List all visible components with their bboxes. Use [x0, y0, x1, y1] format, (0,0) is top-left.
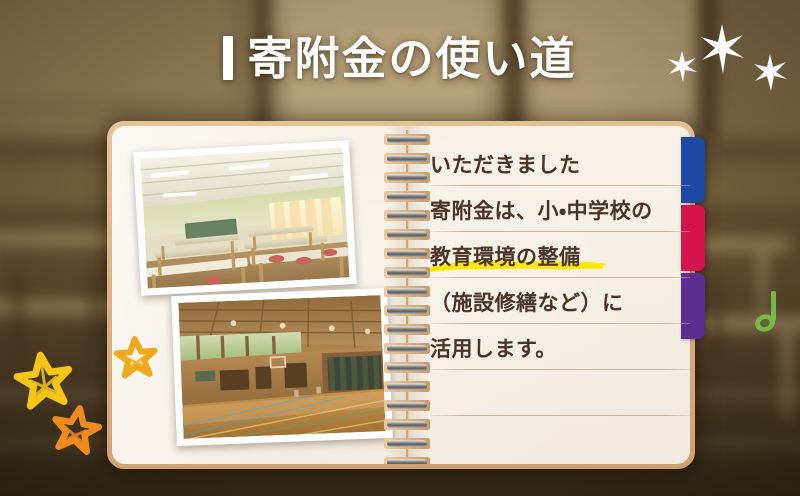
notebook-page: いただきました 寄附金は、小・中学校の 教育環境の整備: [112, 126, 690, 464]
star-doodle-decorations: [8, 325, 173, 470]
text-line-4: （施設修繕など）に: [430, 287, 624, 317]
text-line-highlighted: 教育環境の整備: [430, 232, 690, 278]
classroom-photo[interactable]: [133, 140, 357, 296]
notebook: いただきました 寄附金は、小・中学校の 教育環境の整備: [107, 121, 695, 469]
text-line-5: 活用します。: [430, 333, 557, 363]
sparkle-small-left: [668, 51, 697, 82]
text-line: 活用します。: [430, 324, 690, 370]
sparkle-decorations: [650, 18, 790, 98]
title-bar-marker-icon: [223, 36, 233, 80]
text-line-1: いただきました: [430, 149, 581, 179]
star-doodle-gold: [116, 338, 156, 376]
star-doodle-orange: [51, 405, 102, 454]
text-line: （施設修繕など）に: [430, 278, 690, 324]
quarter-note-icon: [752, 288, 786, 336]
gymnasium-photo[interactable]: [171, 288, 393, 446]
text-line-empty: [430, 370, 690, 416]
text-line: 寄附金は、小・中学校の: [430, 186, 690, 232]
right-page-text: いただきました 寄附金は、小・中学校の 教育環境の整備: [430, 140, 690, 460]
star-doodle-yellow: [15, 352, 73, 408]
text-line-2: 寄附金は、小・中学校の: [430, 195, 653, 225]
rule-line: [430, 415, 690, 416]
sparkle-large-center: [701, 24, 744, 74]
sparkle-medium-right: [754, 54, 787, 91]
page-title: 寄附金の使い道: [247, 36, 576, 81]
text-line: いただきました: [430, 140, 690, 186]
spiral-binding: [380, 126, 434, 464]
text-line-3: 教育環境の整備: [430, 241, 581, 271]
screenshot-root: 寄附金の使い道: [0, 0, 800, 496]
